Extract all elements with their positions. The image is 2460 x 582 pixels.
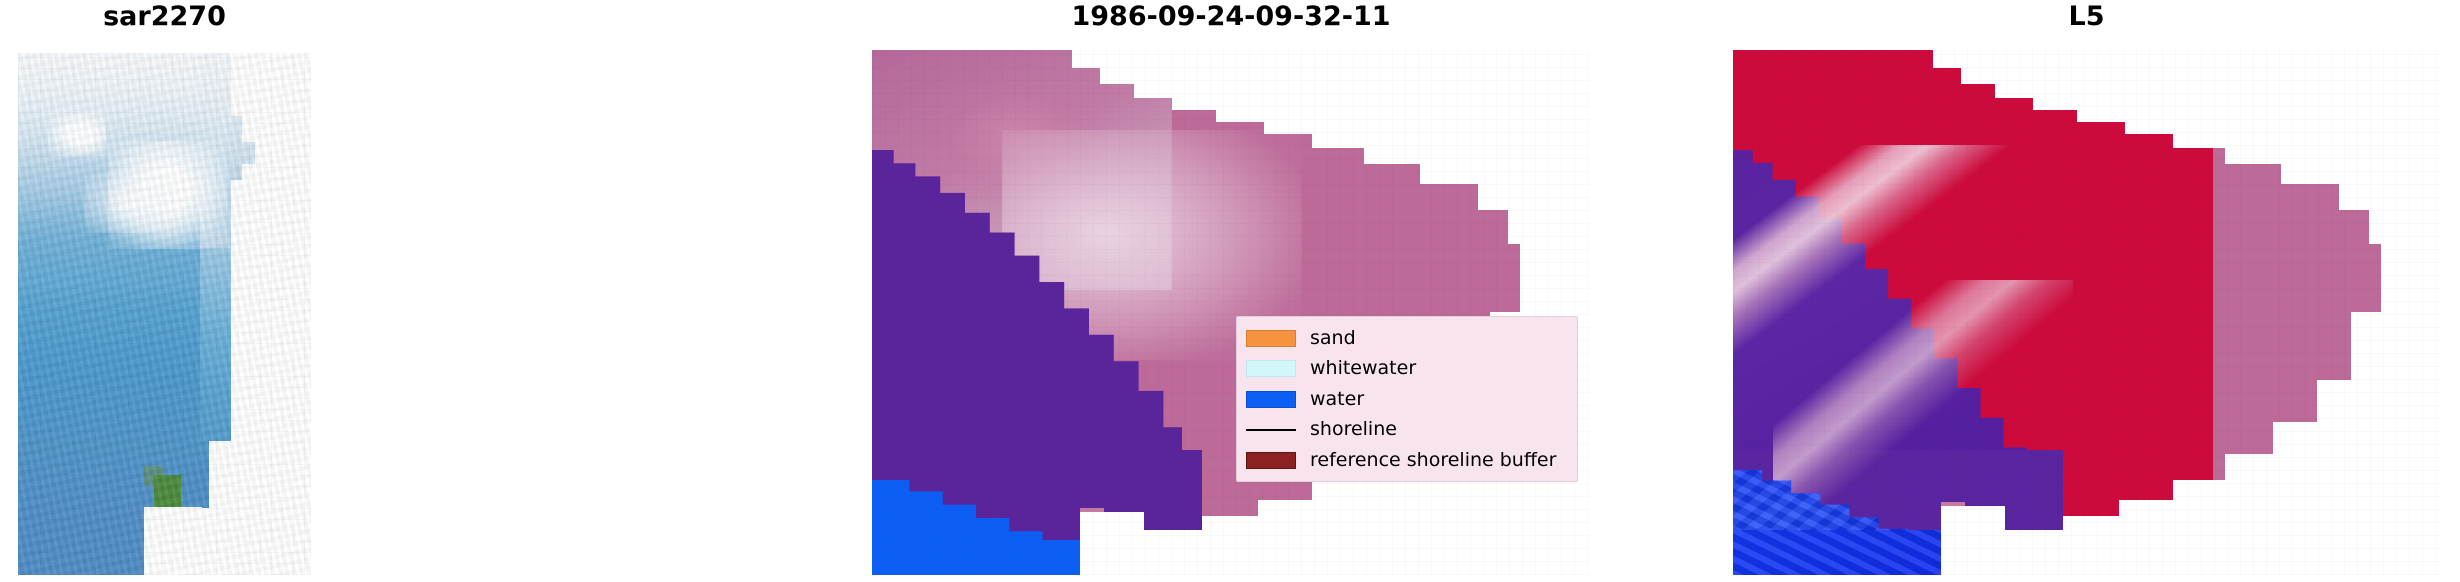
p2-mask-topright-5 — [1216, 110, 1520, 122]
legend-label-whitewater: whitewater — [1310, 358, 1416, 379]
sar-pixel-grid — [18, 53, 311, 575]
p3-mask-bottomright-9 — [1941, 506, 2005, 575]
p3-mask-topright-10 — [2339, 184, 2381, 210]
p3-mask-topright-3 — [1995, 84, 2381, 98]
shoreline-line-icon — [1246, 421, 1296, 438]
sar-image-panel[interactable] — [18, 53, 311, 575]
legend-item-shoreline[interactable]: shoreline — [1246, 416, 1567, 444]
p2-mask-topright-2 — [1100, 68, 1520, 84]
p3-mask-topright-11 — [2369, 210, 2381, 244]
legend-label-reference-shoreline-buffer: reference shoreline buffer — [1310, 450, 1556, 471]
l5-raster — [1733, 50, 2440, 575]
p2-mask-topright-11 — [1508, 210, 1520, 244]
sand-swatch-icon — [1246, 330, 1296, 347]
p3-mask-bottomright-8 — [2005, 530, 2381, 575]
legend-item-whitewater[interactable]: whitewater — [1246, 355, 1567, 383]
l5-shoreline-wash-lower — [1773, 280, 2073, 510]
legend-box[interactable]: sand whitewater water shoreline referenc… — [1236, 316, 1578, 482]
p2-mask-topright-6 — [1264, 122, 1520, 134]
p3-mask-topright-1 — [1933, 50, 2381, 68]
p2-mask-topright-3 — [1134, 84, 1520, 98]
p2-mask-topright-8 — [1364, 148, 1520, 164]
figure-canvas: sar2270 1986-09-24-09-32-11 L5 — [0, 0, 2460, 582]
l5-image-panel[interactable] — [1733, 50, 2440, 575]
legend-item-sand[interactable]: sand — [1246, 324, 1567, 352]
classification-image-panel[interactable] — [872, 50, 1590, 575]
legend-label-shoreline: shoreline — [1310, 419, 1397, 440]
p2-mask-topright-7 — [1312, 134, 1520, 148]
p3-mask-topright-2 — [1961, 68, 2381, 84]
legend-label-water: water — [1310, 389, 1364, 410]
panel-title-timestamp: 1986-09-24-09-32-11 — [872, 2, 1590, 32]
p2-mask-bottomright-9 — [1080, 512, 1144, 575]
l5-water-region-main — [1733, 530, 1941, 575]
water-swatch-icon — [1246, 391, 1296, 408]
panel-title-sar2270: sar2270 — [18, 2, 311, 32]
p2-mask-topright-9 — [1420, 164, 1520, 184]
water-class-region-main — [872, 540, 1080, 575]
panel-title-l5: L5 — [1733, 2, 2440, 32]
p3-mask-topright-6 — [2125, 122, 2381, 134]
p2-mask-topright-4 — [1172, 98, 1520, 110]
p2-mask-topright-10 — [1478, 184, 1520, 210]
p3-mask-topright-4 — [2033, 98, 2381, 110]
sar-raster — [18, 53, 311, 575]
p3-mask-topright-5 — [2077, 110, 2381, 122]
p3-mask-topright-9 — [2281, 164, 2381, 184]
legend-item-water[interactable]: water — [1246, 385, 1567, 413]
shoreline-line-stroke — [1246, 429, 1296, 431]
classification-raster — [872, 50, 1590, 575]
whitewater-swatch-icon — [1246, 360, 1296, 377]
p2-mask-topright-1 — [1072, 50, 1520, 68]
p3-mask-topright-8 — [2225, 148, 2381, 164]
p2-mask-bottomright-8 — [1144, 530, 1520, 575]
legend-item-reference-shoreline-buffer[interactable]: reference shoreline buffer — [1246, 446, 1567, 474]
legend-label-sand: sand — [1310, 328, 1356, 349]
reference-buffer-swatch-icon — [1246, 452, 1296, 469]
p3-mask-topright-7 — [2173, 134, 2381, 148]
